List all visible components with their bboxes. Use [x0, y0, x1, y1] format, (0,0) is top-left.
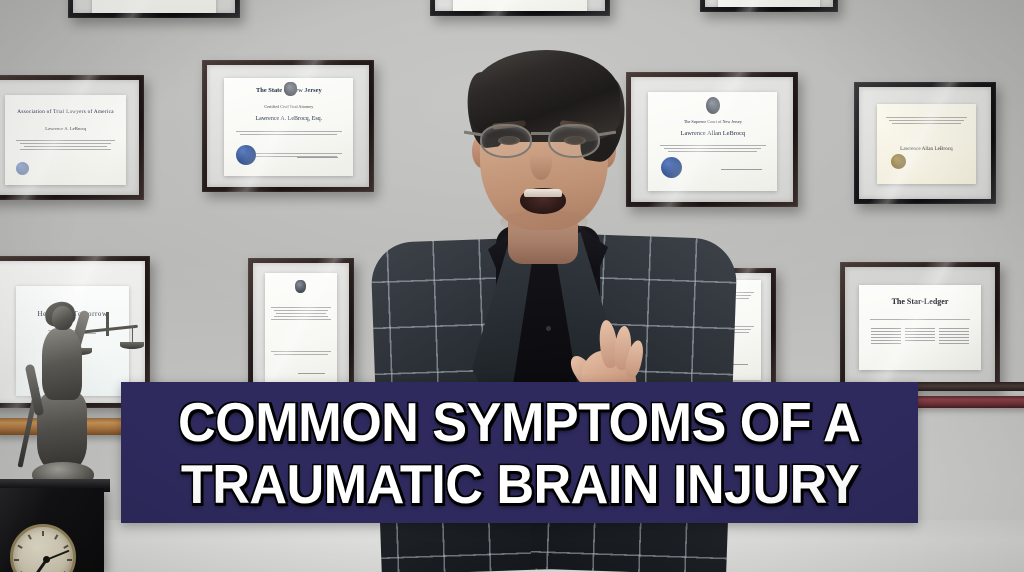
scales-pan-right [120, 342, 144, 349]
certificate-recipient: Lawrence A. LeBrocq, Esq. [242, 116, 335, 122]
statue-torso [42, 328, 82, 400]
framed-certificate-top-center-partial [430, 0, 610, 16]
clock-tick [28, 534, 32, 539]
teeth [524, 189, 562, 197]
certificate-seal [16, 162, 29, 175]
crest-icon [295, 280, 306, 293]
clock-tick [54, 534, 58, 539]
caption-line-2: TRAUMATIC BRAIN INJURY [180, 453, 858, 515]
newspaper-columns [871, 326, 968, 346]
clock-tick [14, 559, 19, 561]
certificate-body-lines [886, 115, 968, 126]
certificate-recipient: Lawrence A. LeBrocq [22, 126, 110, 131]
certificate-paper [265, 273, 337, 395]
statue-robe [37, 392, 87, 470]
framed-certificate-far-right-top: Lawrence Allan LeBrocq [854, 82, 996, 204]
state-crest-icon [284, 82, 297, 96]
caption-line-1: COMMON SYMPTOMS OF A [178, 391, 860, 453]
certificate-paper [453, 0, 586, 11]
nose [530, 144, 552, 180]
certificate-body-lines-2 [271, 349, 330, 357]
newspaper-rule [870, 317, 970, 322]
shirt-button [546, 326, 551, 331]
glasses-lens-right [548, 124, 600, 158]
certificate-paper [92, 0, 216, 13]
scales-string-right [132, 326, 133, 343]
clock-tick [63, 545, 68, 549]
certificate-body-lines [16, 138, 116, 152]
framed-certificate-top-right-partial [700, 0, 838, 12]
framed-newspaper-article: The Star-Ledger [840, 262, 1000, 390]
certificate-body-lines [271, 305, 330, 322]
video-frame: Association of Trial Lawyers of America … [0, 0, 1024, 572]
newspaper-clipping: The Star-Ledger [859, 285, 981, 369]
certificate-recipient: Lawrence Allan LeBrocq [891, 146, 963, 152]
certificate-paper: Association of Trial Lawyers of America … [5, 95, 127, 185]
clock-tick [17, 545, 22, 549]
certificate-body-lines [236, 129, 342, 137]
certificate-subtitle: Certified Civil Trial Attorney [242, 104, 335, 109]
clock-tick [67, 559, 72, 561]
framed-certificate-top-left-partial [68, 0, 240, 18]
glasses-lens-left [480, 124, 532, 158]
newspaper-masthead: The Star-Ledger [866, 297, 973, 306]
signature-line [298, 373, 325, 374]
certificate-seal [891, 154, 906, 169]
signature-line [297, 157, 338, 158]
caption-banner: COMMON SYMPTOMS OF A TRAUMATIC BRAIN INJ… [121, 382, 918, 523]
certificate-seal [236, 145, 256, 165]
certificate-paper: Lawrence Allan LeBrocq [877, 104, 976, 185]
certificate-paper [718, 0, 820, 7]
statue-head [52, 306, 73, 330]
lady-justice-statue [18, 300, 108, 505]
certificate-title: Association of Trial Lawyers of America [15, 109, 117, 115]
scales-post [106, 312, 109, 336]
framed-certificate-upper-left: Association of Trial Lawyers of America … [0, 75, 144, 200]
framed-certificate-upper-center: The State of New Jersey Certified Civil … [202, 60, 374, 192]
clock-center-pin [43, 556, 50, 563]
certificate-paper: The State of New Jersey Certified Civil … [224, 78, 353, 176]
glasses-bridge [531, 132, 550, 135]
clock-tick [42, 531, 44, 536]
